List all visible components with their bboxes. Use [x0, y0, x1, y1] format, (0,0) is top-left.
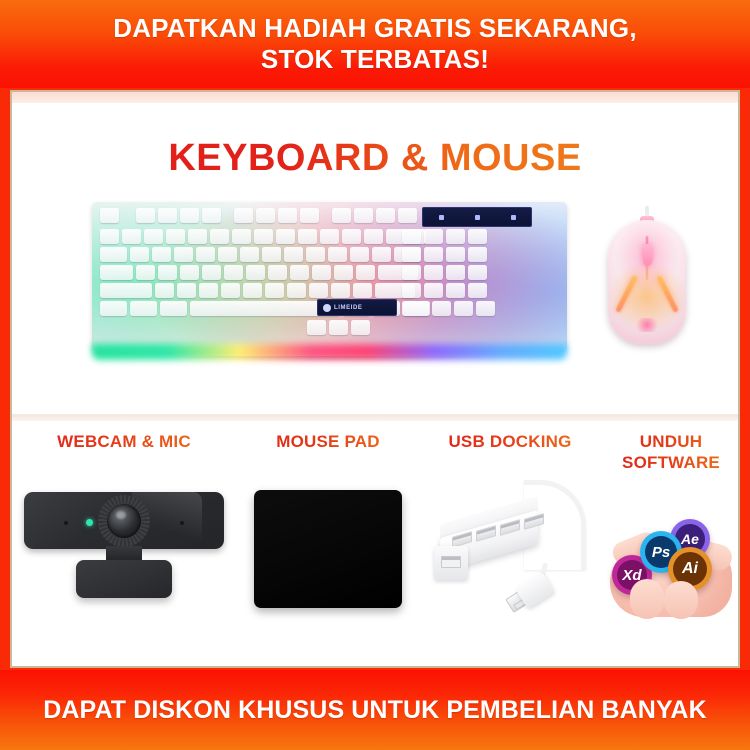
adobe-xd-label: Xd: [622, 567, 641, 584]
bottom-banner-line: DAPAT DISKON KHUSUS UNTUK PEMBELIAN BANY…: [43, 696, 707, 725]
product-card: KEYBOARD & MOUSE XIM: [10, 90, 740, 668]
mouse-led-stripe-right: [656, 275, 679, 313]
section-divider: [12, 414, 738, 421]
mouse-led-stripe-left: [615, 275, 638, 313]
software-icons-image: Xd Ae Ps Ai: [604, 473, 738, 666]
webcam-body: [24, 492, 224, 549]
accessory-label-mousepad: MOUSE PAD: [240, 425, 416, 452]
hand-finger-mid-left: [630, 579, 664, 619]
adobe-ai-label: Ai: [682, 560, 698, 578]
card-top-strip: [12, 92, 738, 103]
mouse-scroll-wheel: [643, 244, 652, 266]
accessory-label-webcam: WEBCAM & MIC: [16, 425, 232, 452]
mousepad-surface: [254, 490, 402, 608]
mouse-body: [608, 220, 686, 344]
keyboard-brand-logo-icon: [323, 304, 331, 312]
bottom-promo-banner: DAPAT DISKON KHUSUS UNTUK PEMBELIAN BANY…: [0, 670, 750, 750]
accessory-label-software-line1: UNDUH: [604, 431, 738, 452]
webcam-status-led-icon: [86, 519, 93, 526]
top-promo-banner: DAPATKAN HADIAH GRATIS SEKARANG, STOK TE…: [0, 0, 750, 88]
usb-a-plug: [503, 572, 555, 617]
mousepad-image: [240, 452, 416, 652]
adobe-ps-label: Ps: [652, 544, 670, 561]
accessory-label-software-line2: SOFTWARE: [604, 452, 738, 473]
accessory-column-webcam: WEBCAM & MIC: [16, 425, 232, 666]
keyboard-mouse-stage: XIM: [12, 192, 738, 407]
usb-hub-front-face: [434, 546, 468, 580]
keyboard-indicator-bar: [422, 207, 532, 227]
accessory-column-usb-docking: USB DOCKING: [420, 425, 600, 666]
rgb-keyboard-image: LIMEIDE: [92, 202, 567, 352]
accessory-label-software: UNDUH SOFTWARE: [604, 425, 738, 473]
webcam-lens-icon: [107, 504, 141, 538]
rgb-mouse-image: [604, 206, 690, 346]
accessory-column-mousepad: MOUSE PAD: [240, 425, 416, 666]
product-promo-poster: DAPATKAN HADIAH GRATIS SEKARANG, STOK TE…: [0, 0, 750, 750]
webcam-mic-hole-left-icon: [64, 521, 68, 525]
webcam-clip-base: [76, 560, 172, 598]
keyboard-shadow: [104, 356, 556, 365]
keyboard-brand-text: LIMEIDE: [334, 305, 363, 311]
usb-port-front-icon: [441, 556, 461, 568]
product-card-inner: KEYBOARD & MOUSE XIM: [12, 92, 738, 666]
usb-hub-image: [420, 452, 600, 652]
keyboard-brand-plate: LIMEIDE: [317, 299, 397, 316]
webcam-mic-hole-right-icon: [180, 521, 184, 525]
page-title: KEYBOARD & MOUSE: [12, 137, 738, 180]
adobe-ae-label: Ae: [681, 531, 699, 547]
top-banner-line-2: STOK TERBATAS!: [261, 44, 489, 75]
accessory-column-software: UNDUH SOFTWARE Xd Ae: [604, 425, 738, 666]
accessory-columns: WEBCAM & MIC: [12, 425, 738, 666]
top-banner-line-1: DAPATKAN HADIAH GRATIS SEKARANG,: [113, 13, 637, 44]
mouse-brand-logo-icon: [634, 318, 660, 332]
hand-finger-mid-right: [664, 581, 698, 619]
webcam-image: [16, 452, 232, 652]
accessory-label-usb-docking: USB DOCKING: [420, 425, 600, 452]
